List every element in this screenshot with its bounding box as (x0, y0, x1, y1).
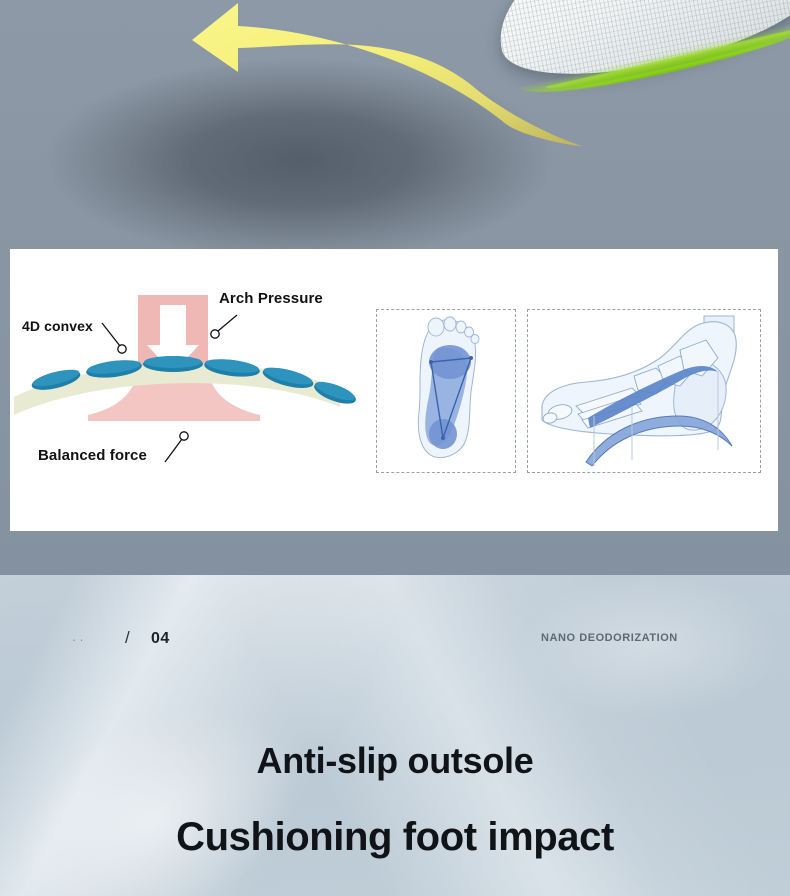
meta-page-number: 04 (151, 630, 170, 648)
section-meta-row: ·· / 04 NANO DEODORIZATION (0, 630, 790, 654)
light-streak-right (470, 575, 790, 745)
label-4d-convex: 4D convex (22, 318, 93, 334)
headline-secondary: Cushioning foot impact (0, 815, 790, 860)
meta-cjk-marks: ·· (72, 632, 87, 647)
curved-yellow-arrow-icon (170, 0, 600, 150)
foot-side-skeleton-box (527, 309, 761, 473)
foot-side-skeleton-graphic (528, 310, 760, 472)
meta-tagline-nano: NANO DEODORIZATION (541, 632, 678, 644)
product-photo-zone (0, 0, 790, 250)
footprint-pressure-map-graphic (377, 310, 515, 472)
product-detail-page: 4D convex Arch Pressure Balanced force (0, 0, 790, 896)
label-balanced-force: Balanced force (38, 447, 147, 464)
headline-primary: Anti-slip outsole (0, 740, 790, 782)
footprint-pressure-map-box (376, 309, 516, 473)
meta-separator: / (125, 628, 130, 648)
label-arch-pressure: Arch Pressure (219, 290, 323, 307)
feature-headline-section: ·· / 04 NANO DEODORIZATION Anti-slip out… (0, 575, 790, 896)
